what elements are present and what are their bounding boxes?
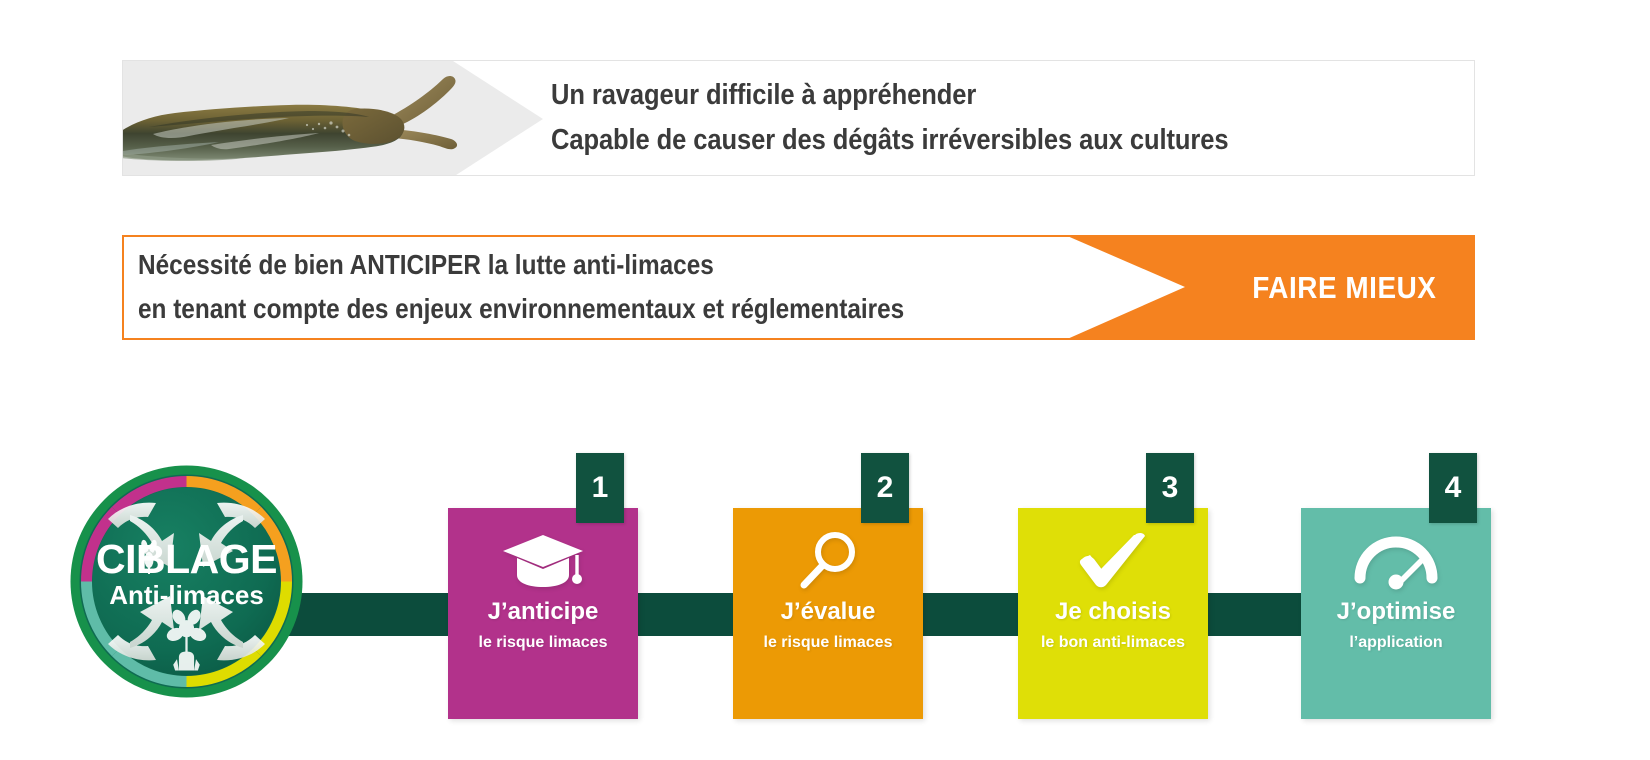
magnifier-icon xyxy=(733,530,923,592)
logo-subtitle: Anti-limaces xyxy=(109,580,264,610)
step-card-2[interactable]: 2 J’évalue le risque limaces xyxy=(733,508,923,719)
infographic-canvas: Un ravageur difficile à appréhender Capa… xyxy=(0,0,1650,760)
step-title: J’anticipe xyxy=(488,598,599,626)
step-subtitle: le risque limaces xyxy=(764,634,893,652)
pest-description-banner: Un ravageur difficile à appréhender Capa… xyxy=(122,60,1475,176)
pest-line-2: Capable de causer des dégâts irréversibl… xyxy=(551,118,1228,163)
checkmark-icon xyxy=(1018,530,1208,592)
step-card-1[interactable]: 1 J’anticipe le risque limaces xyxy=(448,508,638,719)
step-subtitle: le bon anti-limaces xyxy=(1041,634,1185,652)
step-number-badge: 3 xyxy=(1146,453,1194,523)
gauge-icon xyxy=(1301,530,1491,592)
anticipation-banner: Nécessité de bien ANTICIPER la lutte ant… xyxy=(122,235,1475,340)
step-subtitle: le risque limaces xyxy=(479,634,608,652)
anticipation-line-1: Nécessité de bien ANTICIPER la lutte ant… xyxy=(138,243,904,288)
step-number-badge: 2 xyxy=(861,453,909,523)
ciblage-logo: CIBLAGE Anti-limaces xyxy=(68,463,305,700)
graduation-cap-icon xyxy=(448,530,638,592)
step-card-4[interactable]: 4 J’optimise l’application xyxy=(1301,508,1491,719)
step-number-badge: 1 xyxy=(576,453,624,523)
logo-title: CIBLAGE xyxy=(96,536,277,582)
cta-label: FAIRE MIEUX xyxy=(1253,270,1437,306)
pest-line-1: Un ravageur difficile à appréhender xyxy=(551,73,1228,118)
step-title: J’optimise xyxy=(1337,598,1456,626)
step-subtitle: l’application xyxy=(1349,634,1442,652)
pest-description-text: Un ravageur difficile à appréhender Capa… xyxy=(551,73,1321,163)
anticipation-line-2: en tenant compte des enjeux environnemen… xyxy=(138,288,904,333)
step-title: Je choisis xyxy=(1055,598,1171,626)
step-number-badge: 4 xyxy=(1429,453,1477,523)
step-title: J’évalue xyxy=(781,598,876,626)
slug-photo xyxy=(122,61,503,176)
anticipation-text: Nécessité de bien ANTICIPER la lutte ant… xyxy=(138,243,1019,333)
step-card-3[interactable]: 3 Je choisis le bon anti-limaces xyxy=(1018,508,1208,719)
